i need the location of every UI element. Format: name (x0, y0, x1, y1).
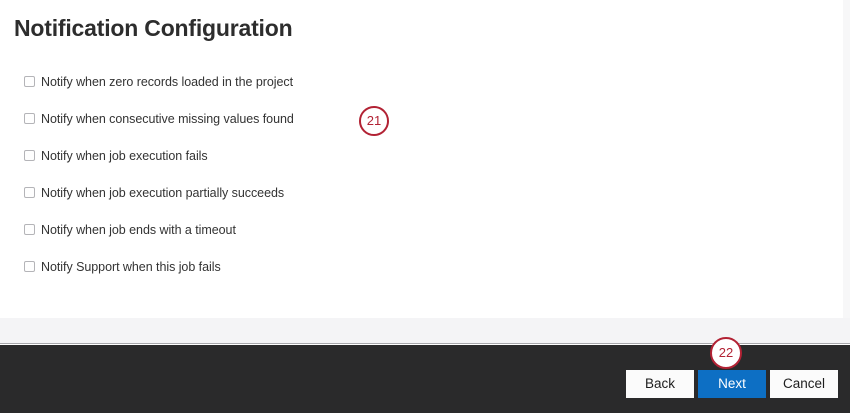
notification-option-row[interactable]: Notify when consecutive missing values f… (0, 100, 843, 137)
notification-option-label: Notify Support when this job fails (41, 259, 221, 275)
notification-option-label: Notify when job execution partially succ… (41, 185, 284, 201)
notification-option-row[interactable]: Notify when job execution partially succ… (0, 174, 843, 211)
checkbox-icon[interactable] (24, 261, 35, 272)
notification-option-label: Notify when job ends with a timeout (41, 222, 236, 238)
notification-option-row[interactable]: Notify when job execution fails (0, 137, 843, 174)
content-panel: Notification Configuration Notify when z… (0, 0, 843, 318)
notification-configuration-screen: Notification Configuration Notify when z… (0, 0, 850, 413)
notification-option-row[interactable]: Notify when zero records loaded in the p… (0, 63, 843, 100)
panel-right-edge (843, 0, 850, 318)
checkbox-icon[interactable] (24, 113, 35, 124)
page-title: Notification Configuration (14, 14, 292, 42)
back-button[interactable]: Back (626, 370, 694, 398)
notification-option-label: Notify when consecutive missing values f… (41, 111, 294, 127)
cancel-button[interactable]: Cancel (770, 370, 838, 398)
checkbox-icon[interactable] (24, 187, 35, 198)
checkbox-icon[interactable] (24, 76, 35, 87)
checkbox-icon[interactable] (24, 224, 35, 235)
checkbox-icon[interactable] (24, 150, 35, 161)
footer-button-group: Back Next Cancel (626, 370, 838, 398)
notification-option-row[interactable]: Notify Support when this job fails (0, 248, 843, 285)
next-button[interactable]: Next (698, 370, 766, 398)
notification-option-row[interactable]: Notify when job ends with a timeout (0, 211, 843, 248)
annotation-badge-22: 22 (710, 337, 742, 369)
notification-options-list: Notify when zero records loaded in the p… (0, 63, 843, 285)
notification-option-label: Notify when zero records loaded in the p… (41, 74, 293, 90)
annotation-badge-21: 21 (359, 106, 389, 136)
notification-option-label: Notify when job execution fails (41, 148, 208, 164)
